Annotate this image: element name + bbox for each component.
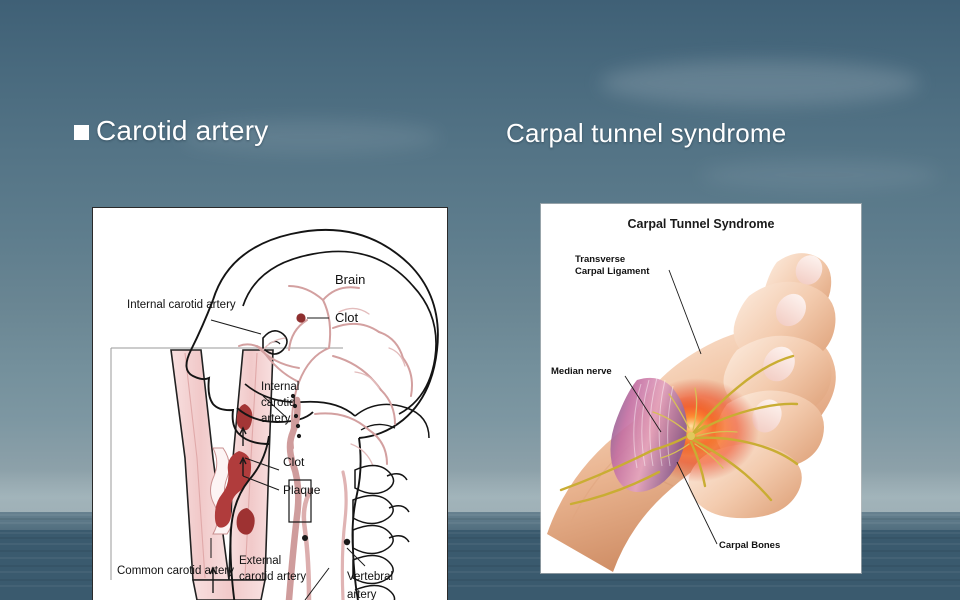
- label-internal-carotid-neck-3: artery: [261, 413, 291, 425]
- label-common-carotid-artery: Common carotid artery: [117, 565, 234, 577]
- clot-marker: [296, 313, 305, 322]
- square-bullet-icon: [74, 125, 89, 140]
- nerve-hub: [687, 432, 695, 440]
- label-brain: Brain: [335, 272, 365, 287]
- presentation-slide: Carotid artery Carpal tunnel syndrome: [0, 0, 960, 600]
- cloud-decoration: [700, 160, 940, 190]
- label-vertebral-artery-1: Vertebral: [347, 571, 393, 583]
- heading-carotid-artery: Carotid artery: [74, 115, 268, 147]
- label-vertebral-artery-2: artery: [347, 589, 377, 600]
- label-internal-carotid-neck-2: carotid: [261, 397, 296, 409]
- label-internal-carotid-neck-1: Internal: [261, 381, 299, 393]
- label-plaque-vessel: Plaque: [283, 483, 321, 497]
- carpal-diagram-svg: Carpal Tunnel Syndrome: [541, 204, 861, 573]
- label-transverse-carpal-ligament-1: Transverse: [575, 254, 625, 265]
- carpal-tunnel-illustration: Carpal Tunnel Syndrome: [541, 204, 861, 573]
- label-external-carotid-artery-1: External: [239, 555, 281, 567]
- label-external-carotid-artery-2: carotid artery: [239, 571, 306, 583]
- carpal-panel-title: Carpal Tunnel Syndrome: [627, 217, 774, 231]
- label-carpal-bones: Carpal Bones: [719, 540, 780, 551]
- label-clot-brain: Clot: [335, 310, 359, 325]
- label-transverse-carpal-ligament-2: Carpal Ligament: [575, 266, 650, 277]
- carotid-artery-illustration: Internal carotid artery Brain Clot Inter…: [92, 207, 448, 600]
- label-clot-vessel: Clot: [283, 455, 305, 469]
- cloud-decoration: [600, 60, 920, 106]
- label-internal-carotid-artery-top: Internal carotid artery: [127, 299, 236, 311]
- label-median-nerve: Median nerve: [551, 366, 612, 377]
- carotid-diagram-svg: Internal carotid artery Brain Clot Inter…: [93, 208, 447, 600]
- heading-carpal-tunnel-syndrome: Carpal tunnel syndrome: [506, 118, 786, 149]
- heading-carotid-artery-label: Carotid artery: [96, 115, 268, 147]
